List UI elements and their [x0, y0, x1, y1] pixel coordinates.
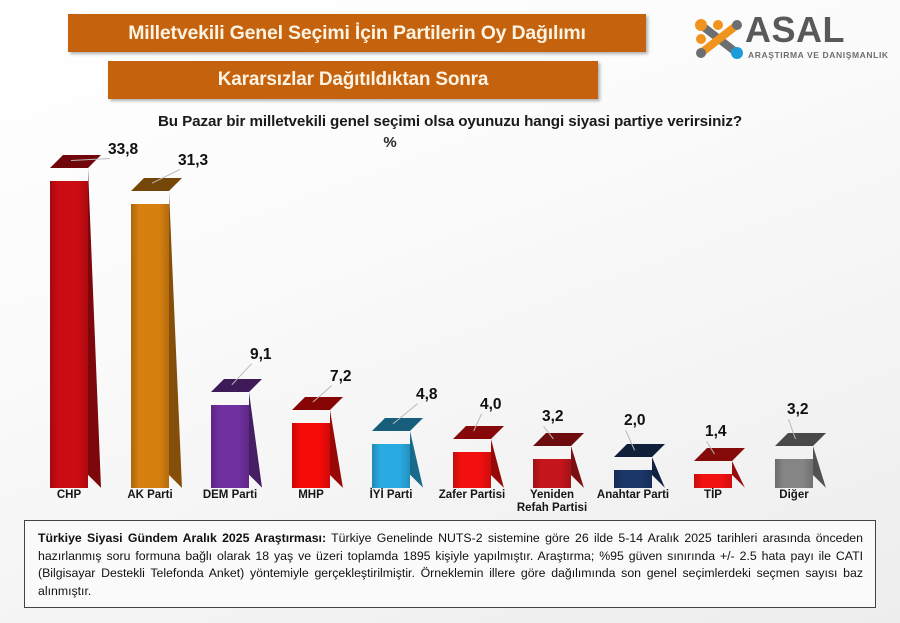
bar-top-face — [775, 433, 826, 446]
category-label-dem-parti: DEM Parti — [185, 489, 275, 502]
bar-side-face — [169, 191, 182, 488]
bar-ti̇p[interactable] — [694, 461, 732, 488]
bar-side-face — [571, 446, 584, 488]
methodology-note: Türkiye Siyasi Gündem Aralık 2025 Araştı… — [24, 520, 876, 608]
bar-front-face — [775, 459, 813, 488]
bar-side-face — [410, 431, 423, 488]
bar-side-face — [88, 168, 101, 488]
bar-side-face — [249, 392, 262, 488]
category-label-yeniden-refah-partisi: Yeniden Refah Partisi — [507, 489, 597, 515]
bar-value-label: 7,2 — [330, 368, 352, 386]
bar-top-face — [453, 426, 504, 439]
bar-front-face — [211, 405, 249, 488]
category-label-ti̇p: TİP — [668, 489, 758, 502]
bar-front-face — [533, 459, 571, 488]
bar-front-face — [292, 423, 330, 488]
category-label-mhp: MHP — [266, 489, 356, 502]
bar-top-face — [50, 155, 101, 168]
bar-value-label: 3,2 — [542, 408, 564, 426]
category-label-chp: CHP — [24, 489, 114, 502]
bar-zafer-partisi[interactable] — [453, 439, 491, 488]
bar-front-face — [50, 181, 88, 488]
methodology-note-title: Türkiye Siyasi Gündem Aralık 2025 Araştı… — [38, 531, 326, 545]
bar-top-face — [211, 379, 262, 392]
bar-side-face — [652, 457, 665, 488]
bar-top-face — [533, 433, 584, 446]
bar-front-face — [614, 470, 652, 488]
bar-value-label: 31,3 — [178, 152, 208, 170]
category-label-zafer-partisi: Zafer Partisi — [427, 489, 517, 502]
bar-value-label: 4,8 — [416, 386, 438, 404]
bar-front-face — [694, 474, 732, 488]
category-label-i̇yi̇-parti: İYİ Parti — [346, 489, 436, 502]
category-label-anahtar-parti: Anahtar Parti — [588, 489, 678, 502]
bar-side-face — [491, 439, 504, 488]
bar-value-label: 9,1 — [250, 346, 272, 364]
bar-front-face — [372, 444, 410, 488]
bar-front-face — [453, 452, 491, 488]
bar-value-label: 33,8 — [108, 141, 138, 159]
bar-chp[interactable] — [50, 168, 88, 488]
bar-yeniden-refah-partisi[interactable] — [533, 446, 571, 488]
bar-top-face — [694, 448, 745, 461]
bar-mhp[interactable] — [292, 410, 330, 488]
category-label-ak-parti: AK Parti — [105, 489, 195, 502]
bar-diğer[interactable] — [775, 446, 813, 488]
bar-dem-parti[interactable] — [211, 392, 249, 488]
bar-side-face — [732, 461, 745, 488]
bar-value-label: 2,0 — [624, 412, 646, 430]
bar-side-face — [813, 446, 826, 488]
bar-value-label: 1,4 — [705, 423, 727, 441]
bar-value-label: 4,0 — [480, 396, 502, 414]
bar-top-face — [614, 444, 665, 457]
bar-ak-parti[interactable] — [131, 191, 169, 488]
bar-side-face — [330, 410, 343, 488]
bar-anahtar-parti[interactable] — [614, 457, 652, 488]
bar-front-face — [131, 204, 169, 488]
bar-i̇yi̇-parti[interactable] — [372, 431, 410, 488]
bar-value-label: 3,2 — [787, 401, 809, 419]
category-label-diğer: Diğer — [749, 489, 839, 502]
